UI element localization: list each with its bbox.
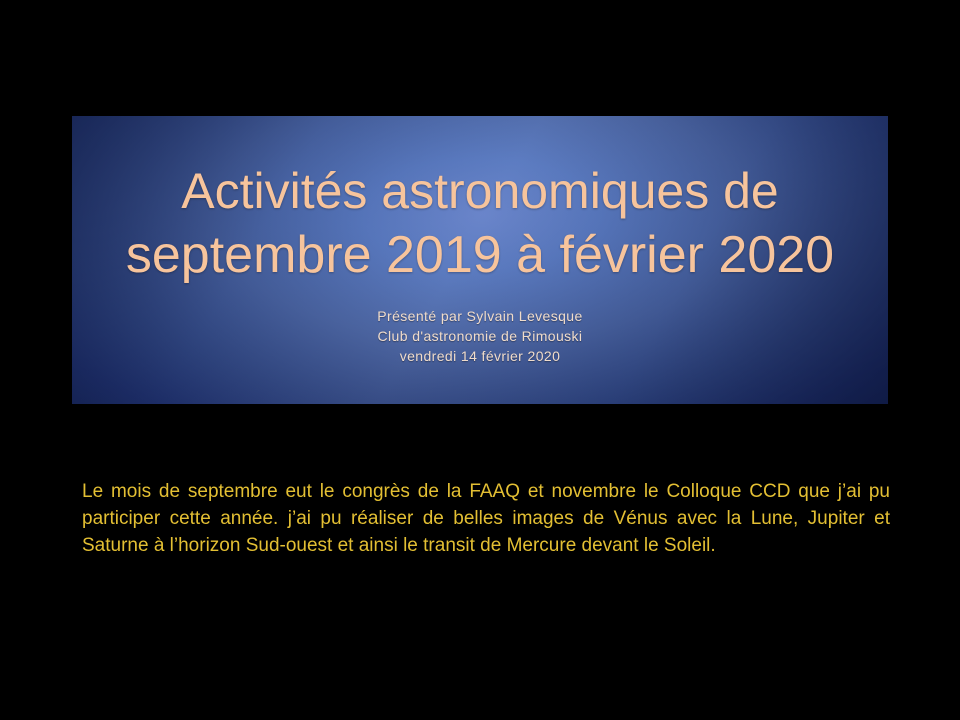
presentation-slide: Activités astronomiques de septembre 201… <box>0 0 960 720</box>
body-text-block: Le mois de septembre eut le congrès de l… <box>82 478 890 559</box>
subtitle-organization: Club d'astronomie de Rimouski <box>377 326 582 346</box>
subtitle-presenter: Présenté par Sylvain Levesque <box>377 306 582 326</box>
slide-title-line-1: Activités astronomiques de <box>181 162 779 220</box>
subtitle-date: vendredi 14 février 2020 <box>377 346 582 366</box>
subtitle-block: Présenté par Sylvain Levesque Club d'ast… <box>377 306 582 366</box>
title-banner: Activités astronomiques de septembre 201… <box>72 116 888 404</box>
slide-title-line-2: septembre 2019 à février 2020 <box>126 226 834 284</box>
body-paragraph: Le mois de septembre eut le congrès de l… <box>82 478 890 559</box>
banner-content: Activités astronomiques de septembre 201… <box>72 116 888 404</box>
